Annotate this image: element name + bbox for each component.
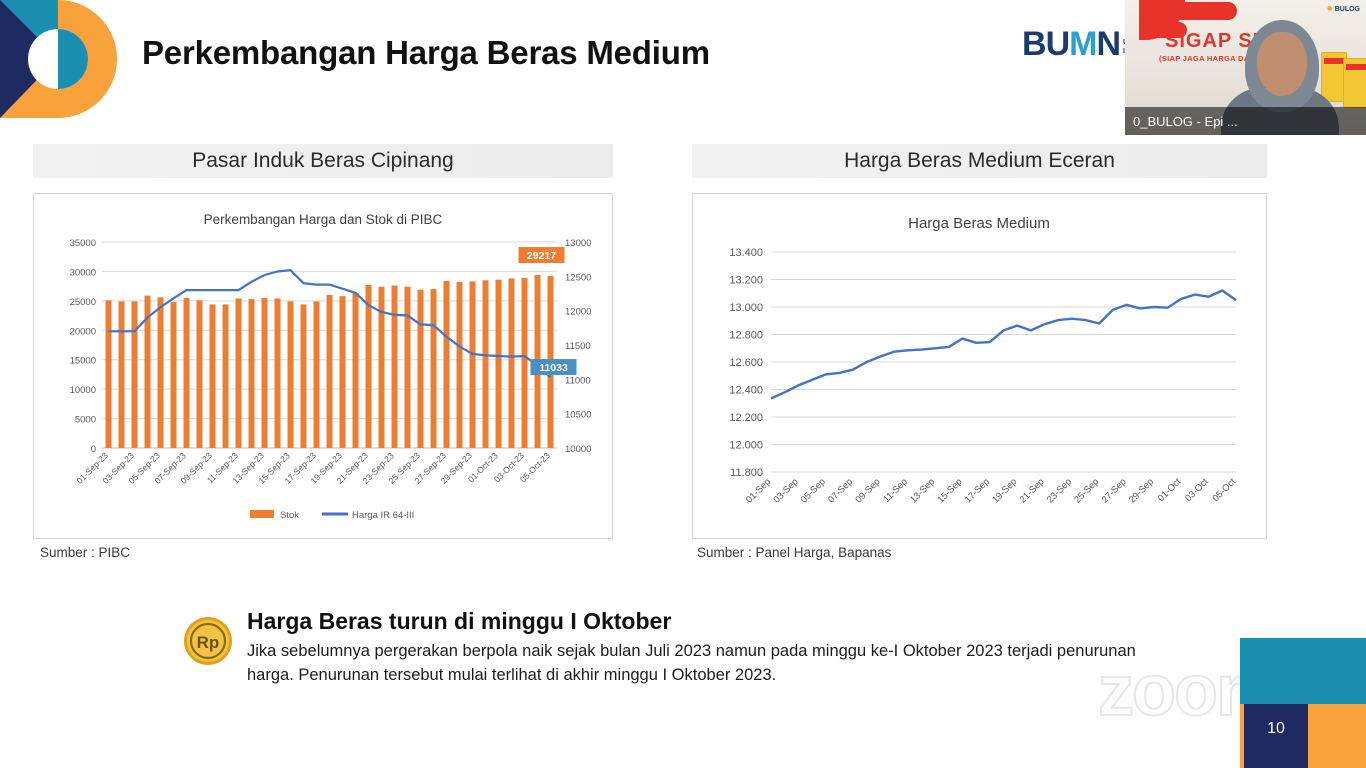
bumn-letter-n: N [1096,25,1120,63]
slide-number-box: 10 [1244,704,1308,768]
svg-text:01-Sep: 01-Sep [743,476,772,505]
svg-text:12.800: 12.800 [729,330,763,342]
video-caption: 0_BULOG - Epi ... [1125,107,1366,135]
bulog-logo: ✹ BULOG [1327,5,1360,13]
chart-title-eceran: Harga Beras Medium [908,215,1050,232]
rupiah-coin-icon: Rp [183,616,233,666]
svg-text:13.000: 13.000 [729,302,763,314]
chart-axis-y-labels: 11.80012.00012.20012.40012.60012.80013.0… [729,247,763,479]
chart-axis-left-labels: 05000100001500020000250003000035000 [70,238,96,455]
svg-text:30000: 30000 [70,267,96,278]
svg-text:12.200: 12.200 [729,412,763,424]
svg-text:11000: 11000 [565,375,591,386]
bumn-circle-logo [0,0,118,118]
svg-text:17-Sep: 17-Sep [962,476,991,505]
panel-header-right: Harga Beras Medium Eceran [692,144,1267,178]
svg-text:13000: 13000 [565,238,591,249]
svg-text:13.200: 13.200 [729,275,763,287]
speaker-face [1257,32,1307,96]
svg-text:03-Sep: 03-Sep [771,476,800,505]
svg-text:15000: 15000 [70,356,96,367]
source-note-left: Sumber : PIBC [40,545,130,560]
chart-axis-x-labels: 01-Sep-2303-Sep-2305-Sep-2307-Sep-2309-S… [74,450,552,486]
svg-text:07-Sep: 07-Sep [825,476,854,505]
banner-swoosh-2 [1159,2,1237,20]
svg-text:Stok: Stok [280,510,299,521]
svg-text:29217: 29217 [527,250,556,262]
svg-text:Harga IR 64-III: Harga IR 64-III [352,510,414,521]
svg-text:0: 0 [91,444,96,455]
svg-text:25-Sep: 25-Sep [1071,476,1100,505]
source-note-right: Sumber : Panel Harga, Bapanas [697,545,891,560]
bumn-letter-u: U [1046,25,1070,63]
svg-text:19-Sep: 19-Sep [989,476,1018,505]
chart-eceran: Harga Beras Medium 11.80012.00012.20012.… [692,193,1267,539]
svg-text:10000: 10000 [70,385,96,396]
callout-body: Jika sebelumnya pergerakan berpola naik … [247,640,1152,688]
callout-block: Rp Harga Beras turun di minggu I Oktober… [183,608,1183,687]
svg-text:03-Oct: 03-Oct [1182,475,1210,503]
svg-text:11500: 11500 [565,341,591,352]
svg-text:05-Sep: 05-Sep [798,476,827,505]
corner-block-teal [1240,638,1366,704]
svg-text:12.400: 12.400 [729,385,763,397]
svg-text:11-Sep: 11-Sep [881,476,910,505]
bumn-letter-m: M [1069,25,1096,63]
svg-text:29-Sep: 29-Sep [1126,476,1155,505]
chart-pibc: Perkembangan Harga dan Stok di PIBC 0500… [33,193,613,539]
svg-text:20000: 20000 [70,326,96,337]
panel-header-left: Pasar Induk Beras Cipinang [33,144,613,178]
chart-axis-x-labels: 01-Sep03-Sep05-Sep07-Sep09-Sep11-Sep13-S… [743,475,1237,504]
slide-number: 10 [1267,720,1285,738]
svg-text:5000: 5000 [75,415,96,426]
svg-text:12.000: 12.000 [729,440,763,452]
chart-axis-right-labels: 10000105001100011500120001250013000 [565,238,591,455]
callout-title: Harga Beras turun di minggu I Oktober [247,608,1183,636]
zoom-video-thumbnail[interactable]: SIGAP SPHP (SIAP JAGA HARGA DAN SPHP) ✹ … [1125,0,1366,135]
svg-text:21-Sep: 21-Sep [1017,476,1046,505]
svg-text:12.600: 12.600 [729,357,763,369]
svg-text:11033: 11033 [539,362,568,374]
svg-text:35000: 35000 [70,238,96,249]
svg-text:13-Sep: 13-Sep [907,476,936,505]
svg-text:10000: 10000 [565,444,591,455]
rice-pack-2 [1343,58,1366,108]
svg-text:12000: 12000 [565,307,591,318]
svg-text:25000: 25000 [70,297,96,308]
svg-text:15-Sep: 15-Sep [935,476,964,505]
svg-text:11.800: 11.800 [730,467,763,479]
page-title: Perkembangan Harga Beras Medium [142,34,710,72]
svg-text:09-Sep: 09-Sep [853,476,882,505]
svg-text:23-Sep: 23-Sep [1044,476,1073,505]
svg-text:Rp: Rp [197,633,220,652]
bumn-letter-b: B [1022,25,1046,63]
chart-gridlines [771,252,1236,472]
svg-text:05-Oct: 05-Oct [1210,475,1238,503]
svg-text:13.400: 13.400 [729,247,763,259]
svg-text:27-Sep: 27-Sep [1099,476,1128,505]
svg-text:10500: 10500 [565,410,591,421]
chart-title-pibc: Perkembangan Harga dan Stok di PIBC [204,212,443,227]
svg-text:12500: 12500 [565,272,591,283]
chart-legend: StokHarga IR 64-III [250,510,414,521]
svg-text:01-Oct: 01-Oct [1155,475,1183,503]
